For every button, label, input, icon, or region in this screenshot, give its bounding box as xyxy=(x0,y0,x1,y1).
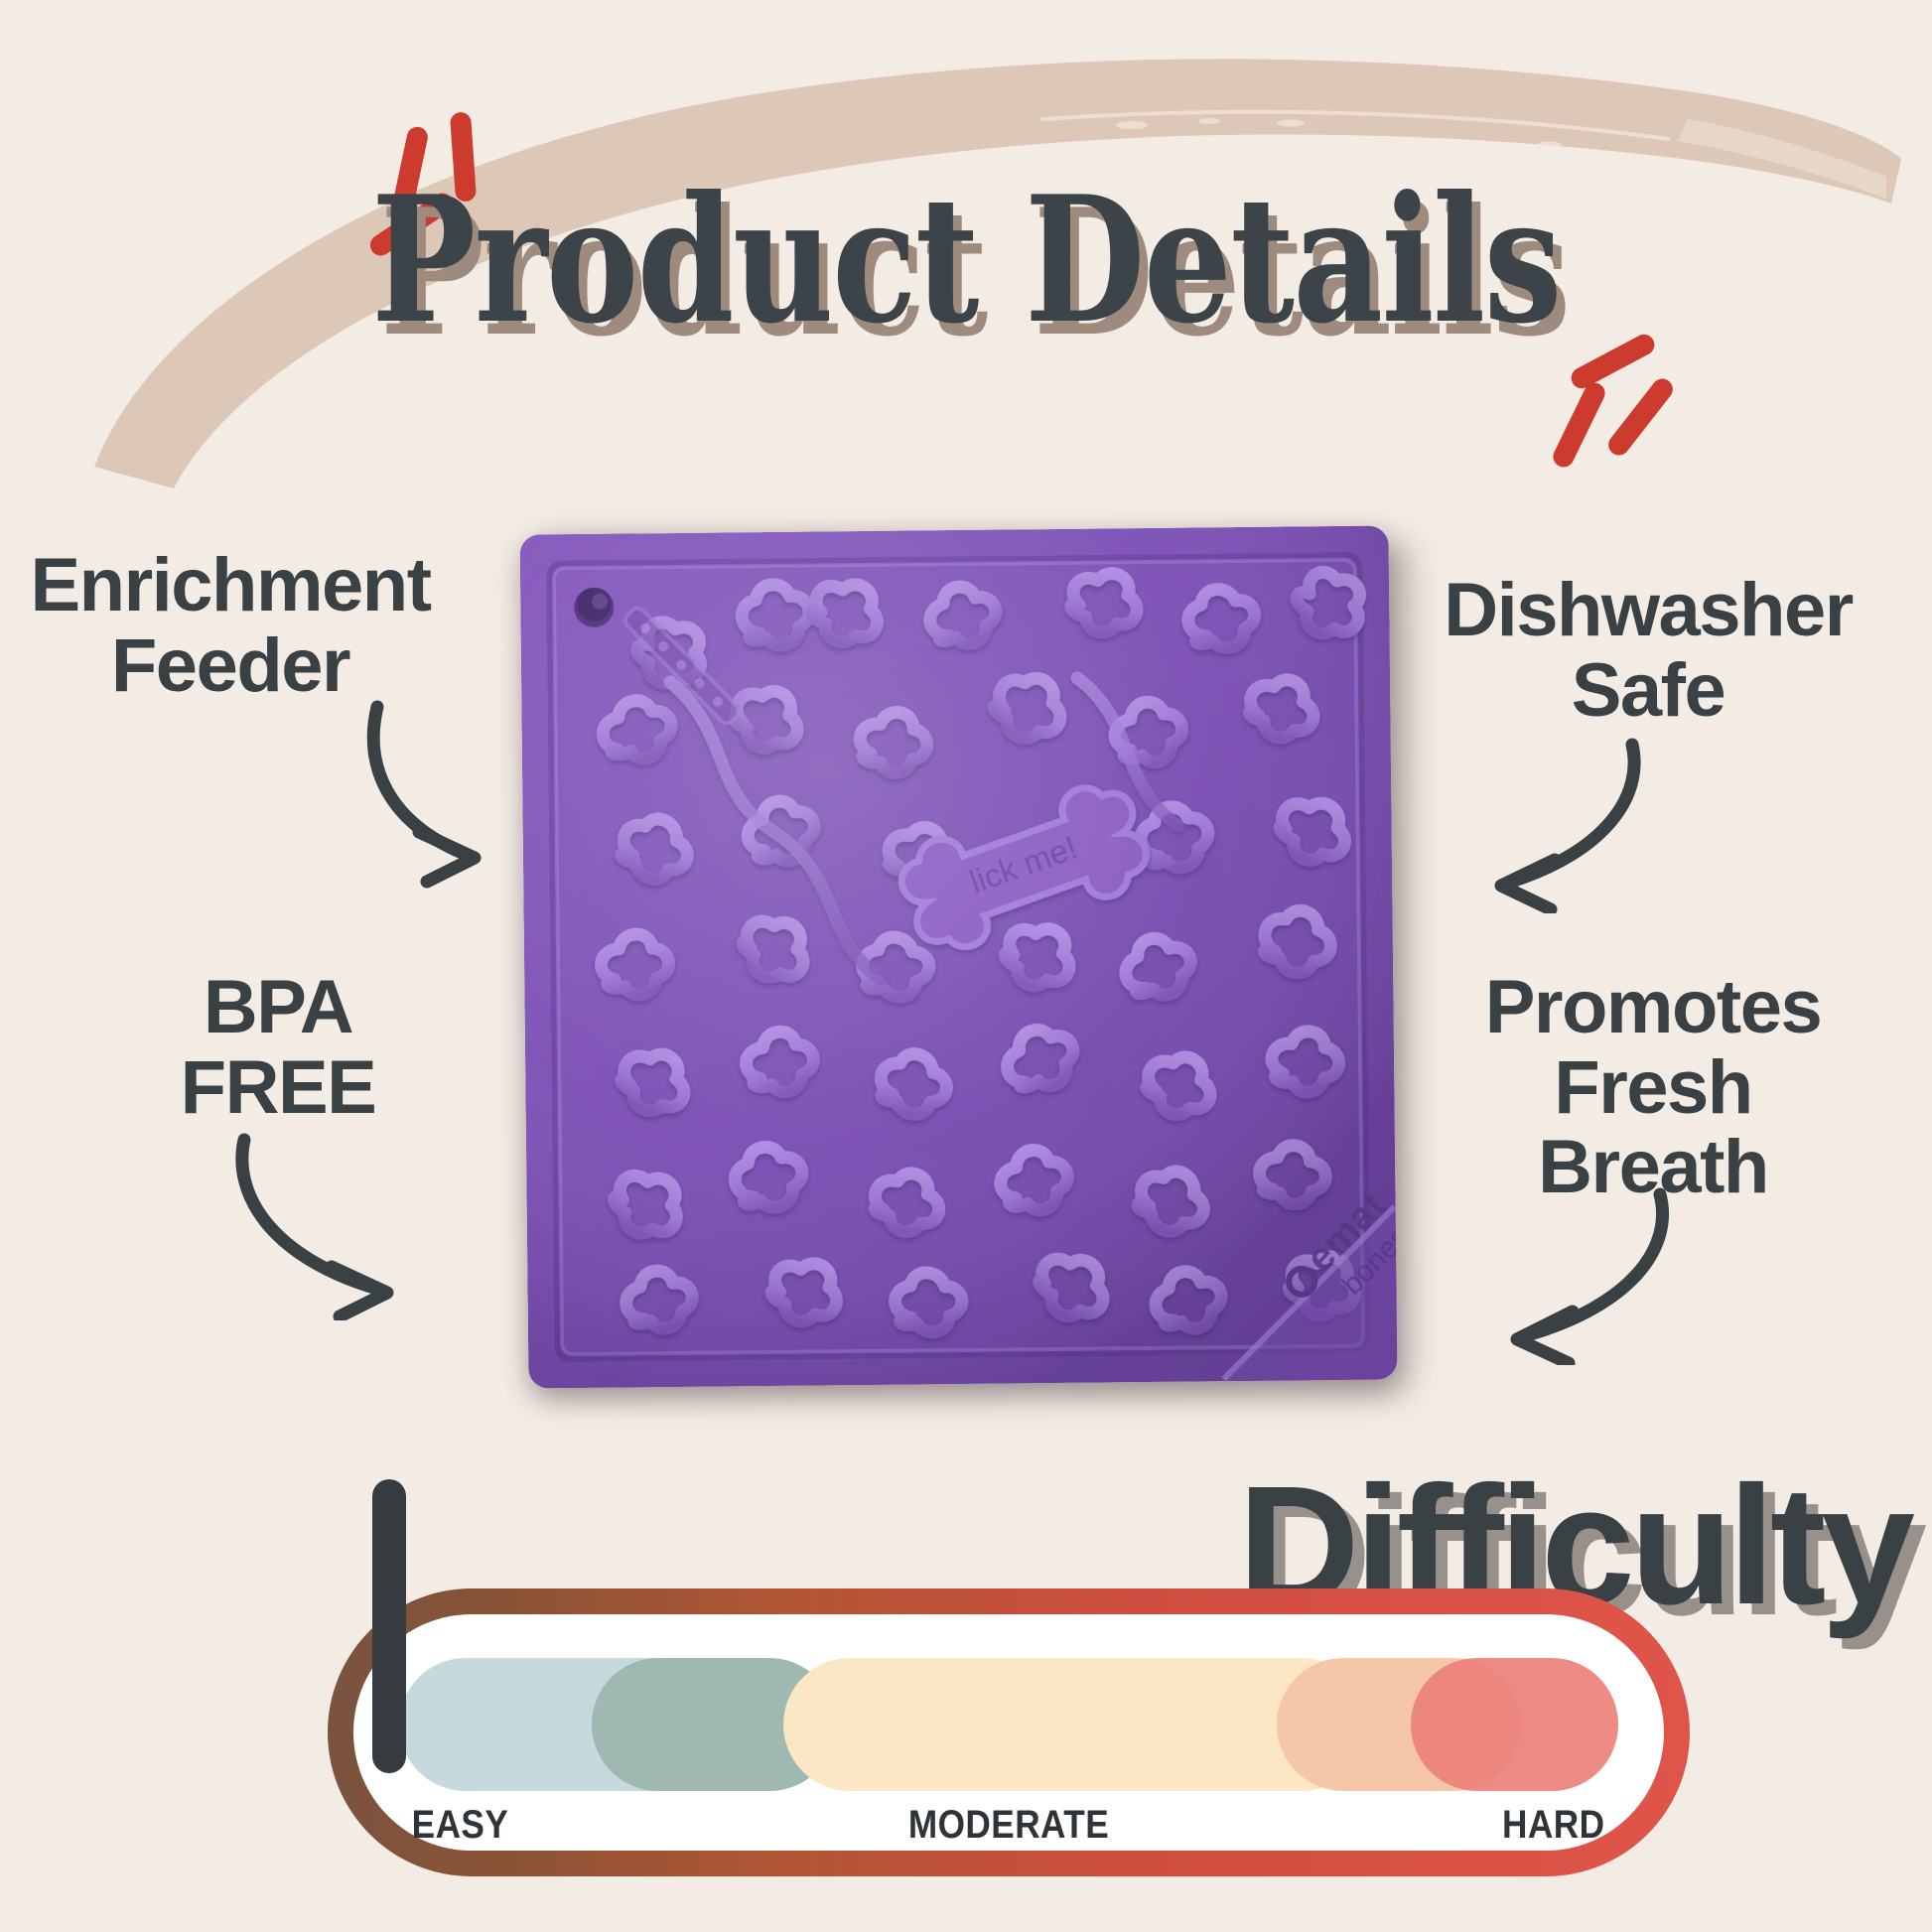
page-title: Product Details xyxy=(194,174,1739,347)
feature-label-bpa-free: BPA FREE xyxy=(129,968,427,1128)
difficulty-indicator-needle[interactable] xyxy=(372,1479,406,1773)
feature-label-dishwasher-safe: Dishwasher Safe xyxy=(1390,571,1906,731)
arrow-promotes-fresh-breath-icon xyxy=(1410,1186,1688,1365)
infographic-canvas: Product Details Enrichment Feeder BPA FR… xyxy=(0,0,1932,1932)
difficulty-label-moderate: MODERATE xyxy=(908,1803,1109,1848)
feature-label-promotes-fresh-breath: Promotes Fresh Breath xyxy=(1420,968,1886,1208)
difficulty-label-easy: EASY xyxy=(412,1803,509,1848)
difficulty-meter[interactable]: EASY MODERATE HARD xyxy=(328,1588,1690,1876)
difficulty-segment-5 xyxy=(1411,1658,1618,1791)
product-image-lick-mat: lick me! xyxy=(520,525,1398,1388)
arrow-bpa-free-icon xyxy=(228,1132,516,1320)
difficulty-label-hard: HARD xyxy=(1503,1803,1605,1848)
difficulty-segments xyxy=(399,1658,1618,1791)
feature-label-enrichment-feeder: Enrichment Feeder xyxy=(22,546,439,706)
difficulty-scale-labels: EASY MODERATE HARD xyxy=(399,1803,1618,1851)
arrow-dishwasher-safe-icon xyxy=(1400,735,1658,913)
